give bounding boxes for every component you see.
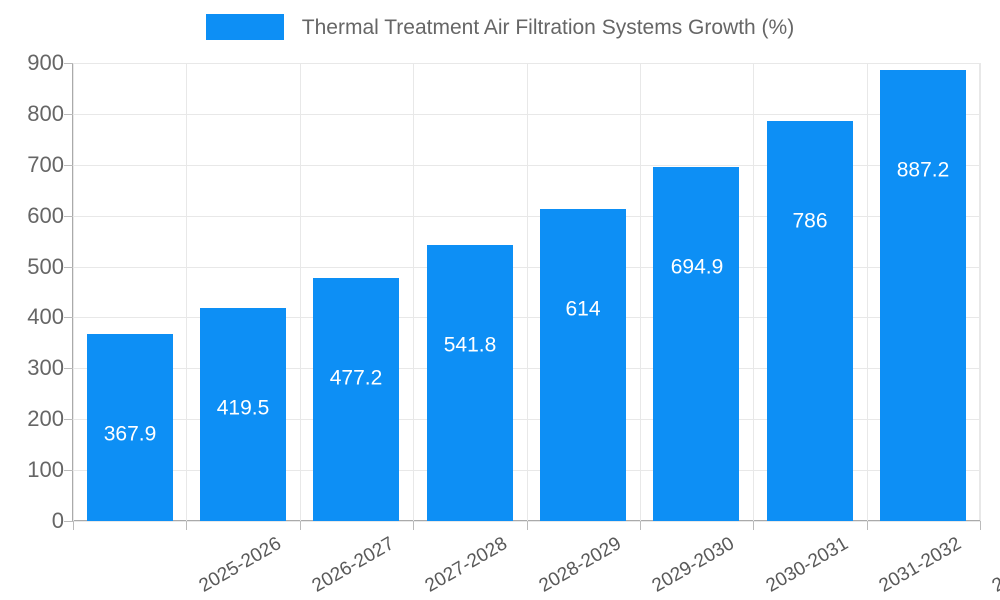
- y-tick-mark: [64, 216, 73, 217]
- x-tick-mark: [413, 521, 414, 530]
- x-tick-mark: [640, 521, 641, 530]
- y-tick-mark: [64, 165, 73, 166]
- y-tick-mark: [64, 317, 73, 318]
- x-axis-label: 2027-2028: [422, 534, 510, 596]
- x-tick-mark: [753, 521, 754, 530]
- x-gridline: [980, 63, 981, 521]
- legend-label-series-0[interactable]: Thermal Treatment Air Filtration Systems…: [302, 17, 794, 38]
- bar-value-label: 887.2: [897, 160, 950, 181]
- x-axis-label: 2026-2027: [309, 534, 397, 596]
- x-gridline: [867, 63, 868, 521]
- y-tick-mark: [64, 470, 73, 471]
- x-axis-label: 2028-2029: [536, 534, 624, 596]
- bar[interactable]: [313, 278, 399, 521]
- chart-legend: Thermal Treatment Air Filtration Systems…: [0, 14, 1000, 40]
- x-tick-mark: [527, 521, 528, 530]
- y-tick-label: 200: [6, 408, 64, 430]
- x-axis-label: 2030-2031: [763, 534, 851, 596]
- x-tick-mark: [980, 521, 981, 530]
- y-tick-label: 700: [6, 154, 64, 176]
- bar-value-label: 419.5: [217, 398, 270, 419]
- y-tick-label: 600: [6, 205, 64, 227]
- bar-value-label: 477.2: [330, 368, 383, 389]
- x-gridline: [413, 63, 414, 521]
- bar-value-label: 367.9: [104, 424, 157, 445]
- bar[interactable]: [880, 70, 966, 521]
- y-tick-label: 0: [6, 510, 64, 532]
- y-tick-label: 900: [6, 52, 64, 74]
- y-tick-label: 400: [6, 306, 64, 328]
- y-tick-label: 500: [6, 256, 64, 278]
- x-tick-mark: [867, 521, 868, 530]
- legend-swatch-series-0[interactable]: [206, 14, 284, 40]
- x-gridline: [186, 63, 187, 521]
- bar-value-label: 541.8: [444, 335, 497, 356]
- x-tick-mark: [186, 521, 187, 530]
- bar-value-label: 694.9: [671, 257, 724, 278]
- x-axis-label: 2025-2026: [196, 534, 284, 596]
- x-tick-mark: [300, 521, 301, 530]
- y-tick-mark: [64, 368, 73, 369]
- y-tick-label: 100: [6, 459, 64, 481]
- x-gridline: [527, 63, 528, 521]
- x-axis-label: 2032-2033: [989, 534, 1000, 596]
- x-gridline: [640, 63, 641, 521]
- y-tick-mark: [64, 521, 73, 522]
- x-axis-label: 2029-2030: [649, 534, 737, 596]
- bar[interactable]: [540, 209, 626, 521]
- bar-value-label: 786: [792, 211, 827, 232]
- y-tick-mark: [64, 419, 73, 420]
- bar[interactable]: [767, 121, 853, 521]
- x-tick-mark: [73, 521, 74, 530]
- y-tick-label: 300: [6, 357, 64, 379]
- x-gridline: [300, 63, 301, 521]
- bar-value-label: 614: [565, 299, 600, 320]
- x-gridline: [753, 63, 754, 521]
- y-tick-label: 800: [6, 103, 64, 125]
- y-tick-mark: [64, 267, 73, 268]
- y-tick-mark: [64, 114, 73, 115]
- x-gridline: [73, 63, 74, 521]
- y-tick-mark: [64, 63, 73, 64]
- bar[interactable]: [427, 245, 513, 521]
- bar-chart: Thermal Treatment Air Filtration Systems…: [0, 0, 1000, 600]
- bar[interactable]: [653, 167, 739, 521]
- x-axis-label: 2031-2032: [876, 534, 964, 596]
